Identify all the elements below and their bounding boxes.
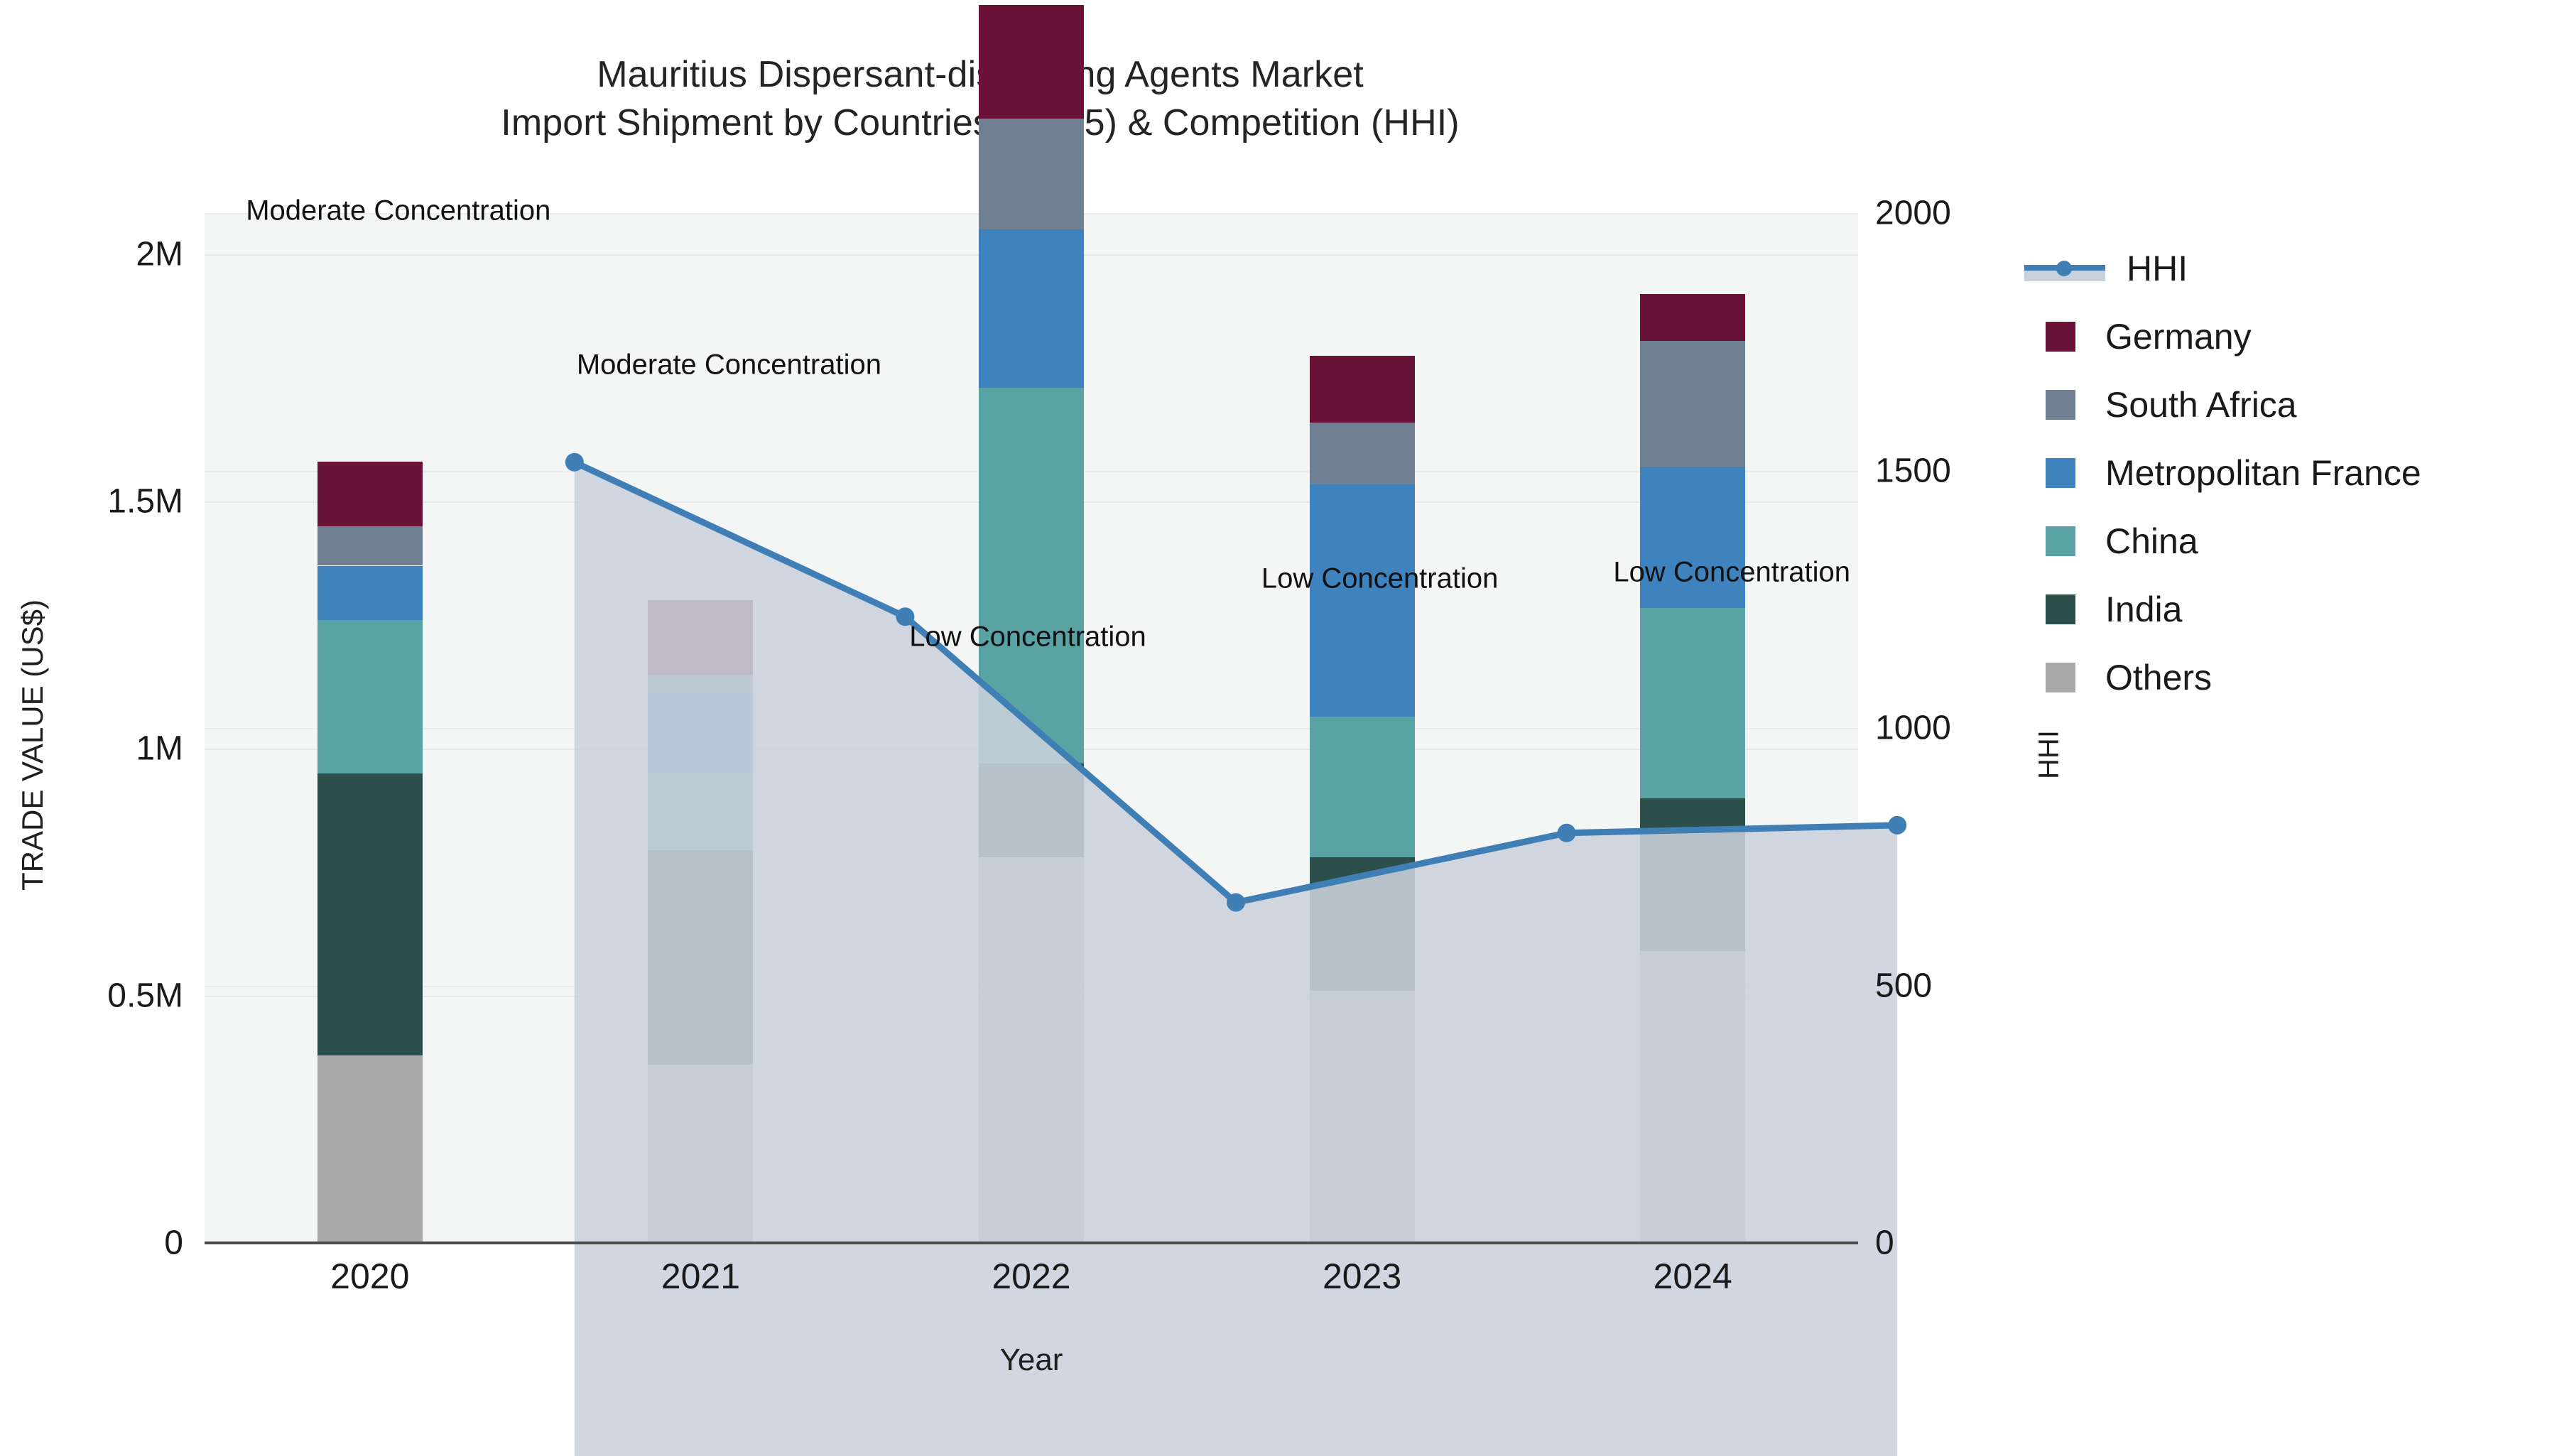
legend-item[interactable]: Germany [2024, 303, 2536, 371]
legend-item[interactable]: India [2024, 575, 2536, 643]
legend-color-swatch [2046, 458, 2075, 488]
legend-item-label: Others [2105, 660, 2212, 695]
legend-color-swatch [2046, 594, 2075, 624]
hhi-annotation: Moderate Concentration [577, 349, 881, 381]
hhi-annotation: Low Concentration [909, 621, 1146, 653]
legend-item-label: China [2105, 523, 2198, 559]
bar-segment[interactable] [1640, 294, 1745, 341]
bar-segment[interactable] [1640, 798, 1745, 952]
plot-area: Moderate ConcentrationModerate Concentra… [205, 213, 1858, 1243]
bar-segment[interactable] [317, 1055, 423, 1243]
legend-item[interactable]: China [2024, 507, 2536, 575]
bar-segment[interactable] [1310, 423, 1415, 484]
y-axis-left-title: TRADE VALUE (US$) [16, 425, 50, 1065]
bar-stack[interactable] [648, 600, 753, 1243]
legend-item[interactable]: Metropolitan France [2024, 439, 2536, 507]
legend-item-label: South Africa [2105, 387, 2297, 423]
bar-segment[interactable] [648, 1065, 753, 1243]
bar-segment[interactable] [1310, 857, 1415, 991]
y-axis-left-tick-label: 2M [0, 234, 183, 273]
bar-segment[interactable] [979, 857, 1084, 1243]
bar-segment[interactable] [979, 764, 1084, 857]
chart-legend: HHIGermanySouth AfricaMetropolitan Franc… [2024, 234, 2536, 712]
bar-segment[interactable] [1310, 717, 1415, 857]
bar-segment[interactable] [648, 850, 753, 1065]
bar-segment[interactable] [1310, 991, 1415, 1243]
legend-item-label: Metropolitan France [2105, 455, 2421, 491]
bar-segment[interactable] [979, 119, 1084, 230]
legend-item[interactable]: HHI [2024, 234, 2536, 303]
y-axis-right-tick-label: 0 [1875, 1224, 2088, 1263]
bar-segment[interactable] [648, 692, 753, 773]
hhi-annotation: Moderate Concentration [246, 195, 550, 227]
hhi-annotation: Low Concentration [1613, 556, 1850, 588]
legend-item-label: Germany [2105, 319, 2252, 354]
x-axis-title: Year [205, 1342, 1858, 1378]
bar-stack[interactable] [1640, 294, 1745, 1243]
x-axis-tick-label: 2022 [911, 1256, 1152, 1297]
bar-segment[interactable] [317, 462, 423, 526]
y-axis-right-tick-label: 500 [1875, 966, 2088, 1005]
bar-stack[interactable] [1310, 356, 1415, 1243]
legend-item[interactable]: Others [2024, 643, 2536, 712]
legend-item[interactable]: South Africa [2024, 371, 2536, 439]
y-axis-right-tick-label: 2000 [1875, 194, 2088, 233]
x-axis-tick-label: 2021 [580, 1256, 821, 1297]
bar-segment[interactable] [1310, 356, 1415, 423]
hhi-marker[interactable] [1888, 816, 1906, 835]
bar-segment[interactable] [1640, 341, 1745, 467]
bar-segment[interactable] [317, 773, 423, 1055]
y-axis-left-tick-label: 0 [0, 1224, 183, 1263]
legend-color-swatch [2046, 663, 2075, 692]
legend-line-icon [2024, 254, 2105, 283]
hhi-marker[interactable] [1227, 893, 1245, 912]
bar-segment[interactable] [979, 229, 1084, 388]
bar-segment[interactable] [648, 773, 753, 850]
legend-color-swatch [2046, 526, 2075, 556]
bar-segment[interactable] [317, 566, 423, 621]
bar-segment[interactable] [1640, 951, 1745, 1243]
hhi-annotation: Low Concentration [1261, 563, 1499, 594]
bar-segment[interactable] [979, 388, 1084, 764]
x-axis-line [205, 1242, 1858, 1244]
hhi-marker[interactable] [1558, 824, 1576, 842]
bar-segment[interactable] [1640, 608, 1745, 798]
bar-segment[interactable] [317, 620, 423, 773]
x-axis-tick-label: 2024 [1572, 1256, 1813, 1297]
x-axis-tick-label: 2020 [249, 1256, 491, 1297]
legend-color-swatch [2046, 322, 2075, 352]
bar-stack[interactable] [317, 462, 423, 1243]
chart-figure: Mauritius Dispersant-dispersing Agents M… [0, 0, 2557, 1438]
x-axis-tick-label: 2023 [1242, 1256, 1483, 1297]
hhi-marker[interactable] [565, 453, 584, 472]
legend-item-label: India [2105, 592, 2182, 627]
bar-segment[interactable] [317, 526, 423, 566]
legend-color-swatch [2046, 390, 2075, 420]
bar-segment[interactable] [648, 675, 753, 692]
bar-segment[interactable] [979, 5, 1084, 119]
legend-item-label: HHI [2127, 251, 2188, 286]
bar-segment[interactable] [648, 600, 753, 674]
bar-segment[interactable] [1310, 484, 1415, 717]
